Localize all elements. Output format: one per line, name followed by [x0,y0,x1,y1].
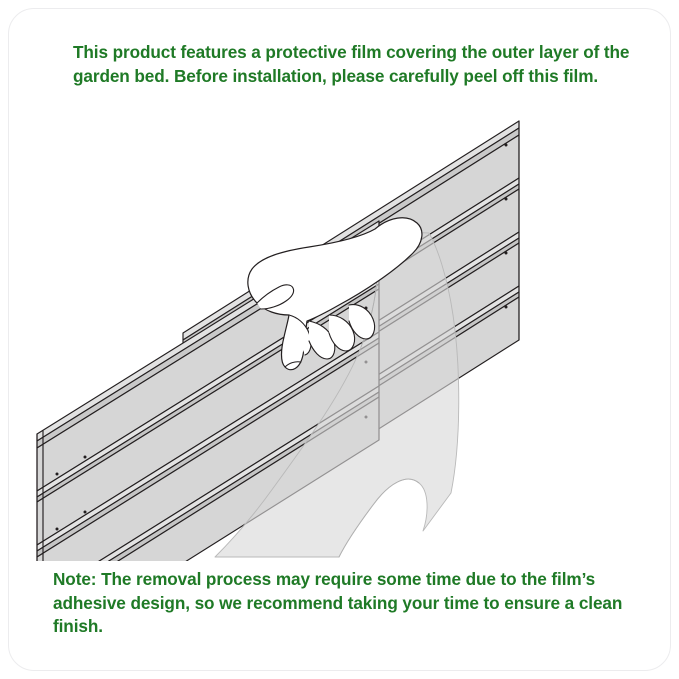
instruction-card: This product features a protective film … [8,8,671,671]
top-instruction-text: This product features a protective film … [73,41,633,88]
garden-bed-film-illustration [9,101,671,561]
bottom-note-text: Note: The removal process may require so… [53,568,638,639]
